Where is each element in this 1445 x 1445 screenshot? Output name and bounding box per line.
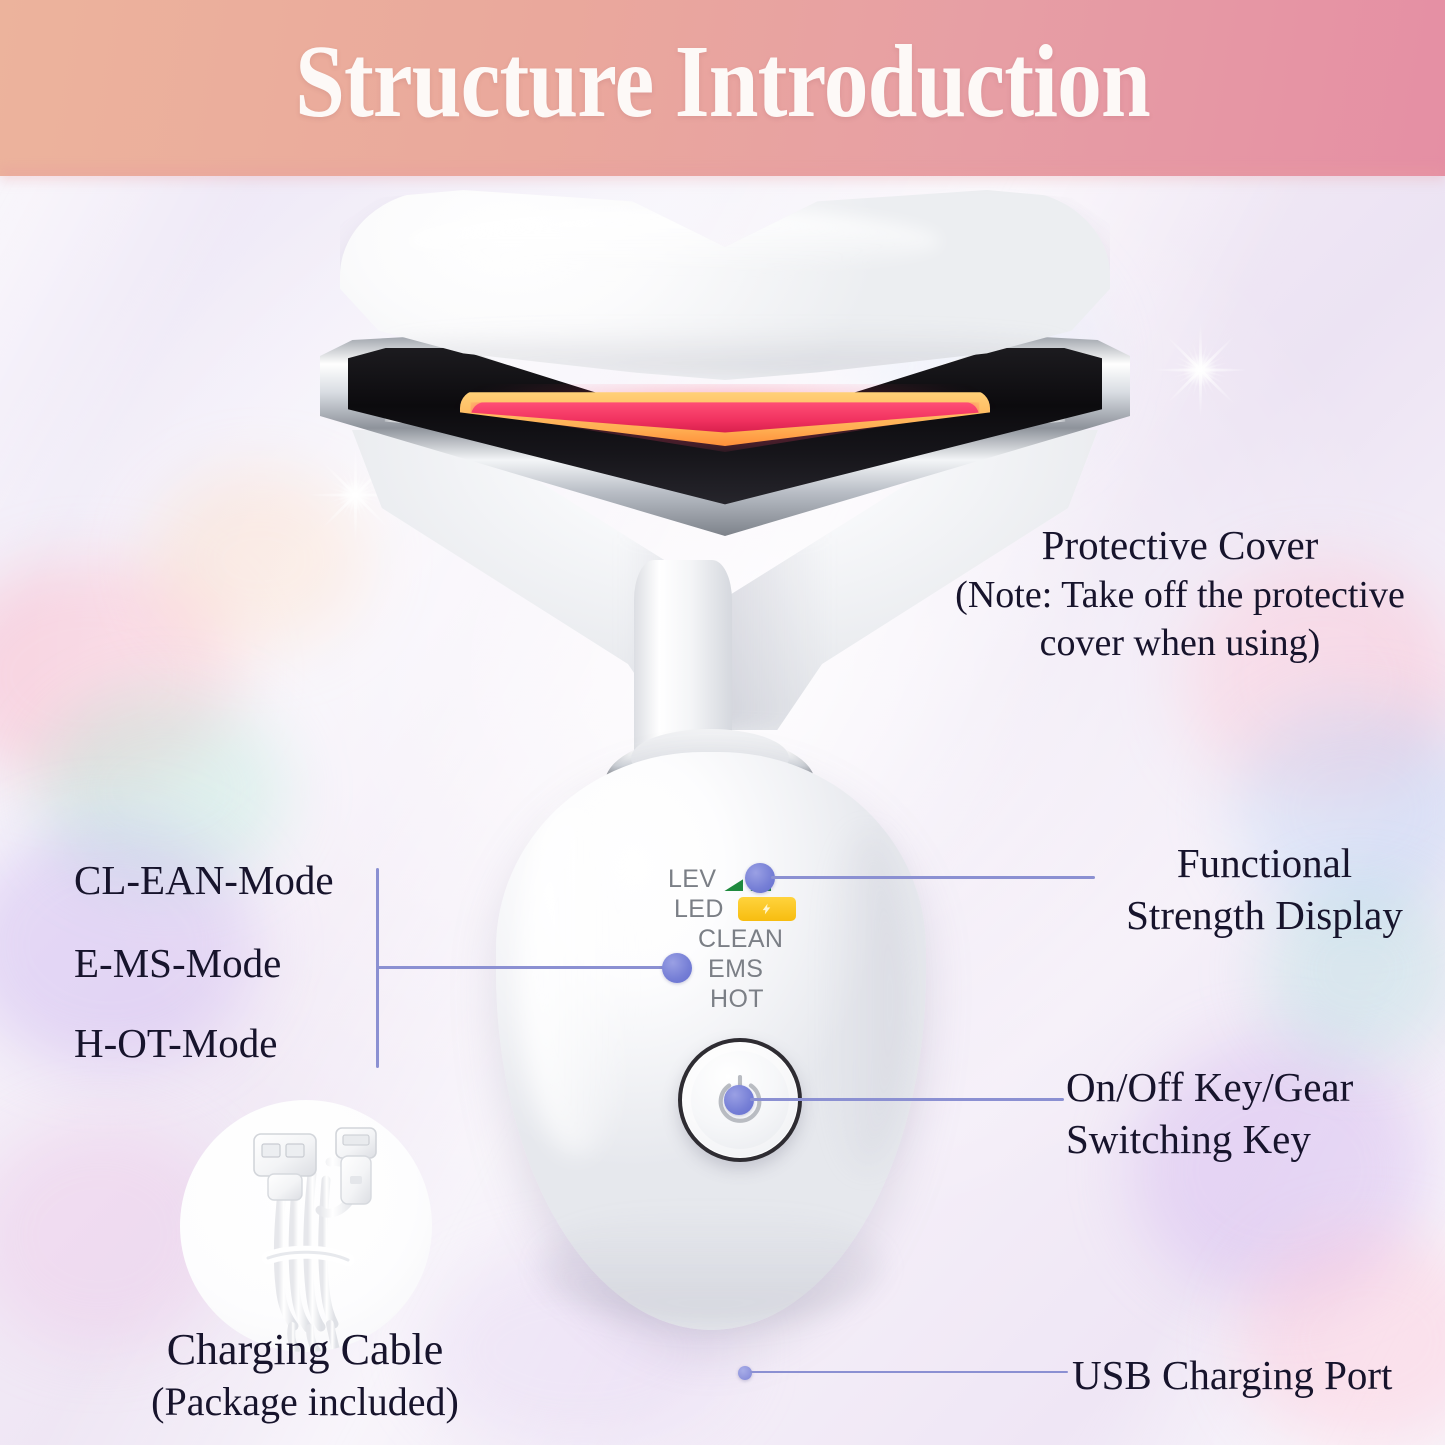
- usb-cable-icon: [180, 1100, 432, 1352]
- charging-cable-photo-inset: [180, 1100, 432, 1352]
- infographic-canvas: Structure Introduction: [0, 0, 1445, 1445]
- connector-dot: [662, 953, 692, 983]
- annotation-hot-mode: H-OT-Mode: [74, 1018, 277, 1070]
- signal-bar-small-icon: [724, 879, 743, 891]
- connector-mode-bracket: [376, 868, 706, 1068]
- connector-strength-display: [745, 860, 1095, 896]
- panel-label-clean: CLEAN: [698, 925, 783, 954]
- micro-usb-plug: [336, 1128, 376, 1204]
- on-off-key-line-2: Switching Key: [1066, 1114, 1426, 1166]
- annotation-strength-display: Functional Strength Display: [1092, 838, 1437, 941]
- body-bottom-shadow: [539, 1209, 883, 1325]
- connector-line: [771, 876, 1095, 879]
- annotation-on-off-key: On/Off Key/Gear Switching Key: [1066, 1062, 1426, 1165]
- charging-cable-subtitle: (Package included): [50, 1377, 560, 1427]
- annotation-protective-cover: Protective Cover (Note: Take off the pro…: [930, 520, 1430, 667]
- panel-label-hot: HOT: [710, 985, 764, 1014]
- panel-row-hot: HOT: [710, 984, 796, 1014]
- lightning-bolt-icon: [760, 901, 773, 917]
- protective-cover: [340, 190, 1110, 380]
- connector-line: [750, 1098, 1064, 1101]
- strength-display-line-1: Functional: [1092, 838, 1437, 890]
- led-red-core: [471, 402, 980, 432]
- connector-power-button: [724, 1082, 1064, 1118]
- annotation-charging-cable: Charging Cable (Package included): [50, 1322, 560, 1428]
- protective-cover-body: [340, 190, 1110, 380]
- connector-line: [750, 1371, 1068, 1373]
- header-banner: Structure Introduction: [0, 0, 1445, 176]
- charging-cable-title: Charging Cable: [50, 1322, 560, 1377]
- connector-dot: [738, 1366, 752, 1380]
- panel-row-ems: EMS: [708, 954, 796, 984]
- on-off-key-line-1: On/Off Key/Gear: [1066, 1062, 1426, 1114]
- page-title: Structure Introduction: [101, 22, 1344, 143]
- cover-shadow: [386, 327, 1064, 376]
- cover-gloss: [402, 209, 941, 274]
- protective-cover-title: Protective Cover: [930, 520, 1430, 572]
- strength-display-line-2: Strength Display: [1092, 890, 1437, 942]
- panel-label-ems: EMS: [708, 955, 763, 984]
- annotation-ems-mode: E-MS-Mode: [74, 938, 281, 990]
- led-light-strip: [460, 390, 990, 446]
- bracket-horizontal-line: [376, 966, 668, 969]
- panel-row-clean: CLEAN: [698, 924, 796, 954]
- protective-cover-note-line-2: cover when using): [930, 620, 1430, 668]
- connector-usb-port: [738, 1366, 1068, 1386]
- protective-cover-note-line-1: (Note: Take off the protective: [930, 572, 1430, 620]
- annotation-usb-charging-port: USB Charging Port: [1072, 1350, 1392, 1402]
- annotation-clean-mode: CL-EAN-Mode: [74, 855, 334, 907]
- led-badge: [738, 897, 796, 921]
